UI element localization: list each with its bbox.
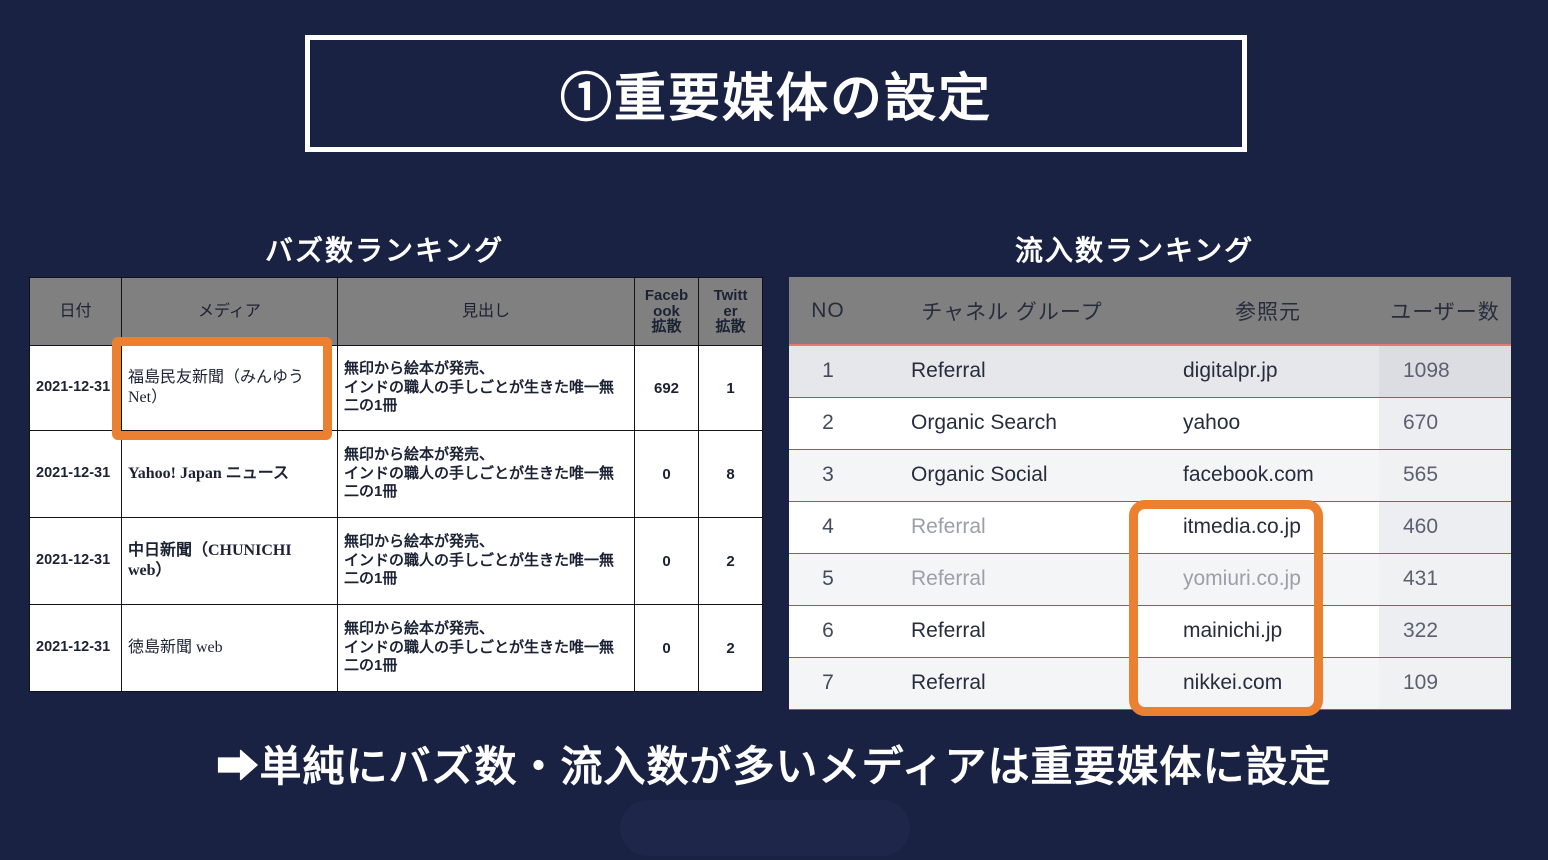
cell-media: 徳島新聞 web <box>122 605 338 692</box>
cell-channel-group: Organic Social <box>867 449 1157 501</box>
table-row: 6Referralmainichi.jp322 <box>789 605 1511 657</box>
fb-line-1: Faceb <box>645 287 688 304</box>
cell-channel-group: Referral <box>867 605 1157 657</box>
cell-facebook-shares: 692 <box>635 346 699 431</box>
cell-no: 3 <box>789 449 867 501</box>
tw-line-3: 拡散 <box>715 318 745 335</box>
cell-no: 1 <box>789 345 867 397</box>
table-row: 2021-12-31徳島新聞 web無印から絵本が発売、インドの職人の手しごとが… <box>30 605 763 692</box>
inflow-ranking-table-wrapper: NO チャネル グループ 参照元 ユーザー数 1Referraldigitalp… <box>789 277 1511 710</box>
column-header-facebook-shares: Faceb ook 拡散 <box>635 278 699 346</box>
buzz-ranking-title: バズ数ランキング <box>265 229 504 269</box>
column-header-media: メディア <box>122 278 338 346</box>
cell-media: Yahoo! Japan ニュース <box>122 431 338 518</box>
table-row: 2021-12-31福島民友新聞（みんゆうNet）無印から絵本が発売、インドの職… <box>30 346 763 431</box>
cell-channel-group: Referral <box>867 345 1157 397</box>
cell-twitter-shares: 8 <box>699 431 763 518</box>
column-header-channel-group: チャネル グループ <box>867 277 1157 345</box>
table-row: 1Referraldigitalpr.jp1098 <box>789 345 1511 397</box>
cell-source: yomiuri.co.jp <box>1157 553 1379 605</box>
cell-no: 6 <box>789 605 867 657</box>
cell-no: 2 <box>789 397 867 449</box>
column-header-no: NO <box>789 277 867 345</box>
cell-no: 7 <box>789 657 867 709</box>
cell-date: 2021-12-31 <box>30 518 122 605</box>
column-header-users: ユーザー数 <box>1379 277 1511 345</box>
inflow-ranking-title: 流入数ランキング <box>1015 229 1254 269</box>
cell-source: mainichi.jp <box>1157 605 1379 657</box>
column-header-twitter-shares: Twitt er 拡散 <box>699 278 763 346</box>
cell-channel-group: Referral <box>867 501 1157 553</box>
cell-source: digitalpr.jp <box>1157 345 1379 397</box>
cell-headline: 無印から絵本が発売、インドの職人の手しごとが生きた唯一無二の1冊 <box>338 346 635 431</box>
cell-facebook-shares: 0 <box>635 431 699 518</box>
cell-no: 4 <box>789 501 867 553</box>
fb-line-3: 拡散 <box>651 318 681 335</box>
slide-canvas: ①重要媒体の設定 バズ数ランキング 流入数ランキング 日付 メディア 見出し F… <box>0 0 1548 860</box>
cell-headline: 無印から絵本が発売、インドの職人の手しごとが生きた唯一無二の1冊 <box>338 431 635 518</box>
table-row: 2021-12-31Yahoo! Japan ニュース無印から絵本が発売、インド… <box>30 431 763 518</box>
column-header-headline: 見出し <box>338 278 635 346</box>
cell-source: itmedia.co.jp <box>1157 501 1379 553</box>
cell-facebook-shares: 0 <box>635 518 699 605</box>
cell-media: 中日新聞（CHUNICHI web） <box>122 518 338 605</box>
cell-users: 431 <box>1379 553 1511 605</box>
slide-title-box: ①重要媒体の設定 <box>305 35 1247 152</box>
buzz-ranking-table: 日付 メディア 見出し Faceb ook 拡散 Twitt er 拡散 202… <box>29 277 763 692</box>
cell-headline: 無印から絵本が発売、インドの職人の手しごとが生きた唯一無二の1冊 <box>338 518 635 605</box>
table-header-row: NO チャネル グループ 参照元 ユーザー数 <box>789 277 1511 345</box>
table-row: 3Organic Socialfacebook.com565 <box>789 449 1511 501</box>
table-row: 5Referralyomiuri.co.jp431 <box>789 553 1511 605</box>
cell-facebook-shares: 0 <box>635 605 699 692</box>
cell-users: 109 <box>1379 657 1511 709</box>
cell-users: 565 <box>1379 449 1511 501</box>
table-row: 7Referralnikkei.com109 <box>789 657 1511 709</box>
cell-twitter-shares: 2 <box>699 605 763 692</box>
cell-source: nikkei.com <box>1157 657 1379 709</box>
buzz-ranking-table-wrapper: 日付 メディア 見出し Faceb ook 拡散 Twitt er 拡散 202… <box>29 277 762 692</box>
cell-date: 2021-12-31 <box>30 346 122 431</box>
background-watermark-shape <box>620 800 910 856</box>
cell-date: 2021-12-31 <box>30 431 122 518</box>
table-row: 2Organic Searchyahoo670 <box>789 397 1511 449</box>
table-header-row: 日付 メディア 見出し Faceb ook 拡散 Twitt er 拡散 <box>30 278 763 346</box>
tw-line-1: Twitt <box>714 287 748 304</box>
cell-users: 322 <box>1379 605 1511 657</box>
cell-users: 670 <box>1379 397 1511 449</box>
inflow-ranking-table: NO チャネル グループ 参照元 ユーザー数 1Referraldigitalp… <box>789 277 1511 710</box>
cell-twitter-shares: 1 <box>699 346 763 431</box>
cell-media: 福島民友新聞（みんゆうNet） <box>122 346 338 431</box>
slide-footer-caption: ➡単純にバズ数・流入数が多いメディアは重要媒体に設定 <box>0 733 1548 794</box>
cell-twitter-shares: 2 <box>699 518 763 605</box>
column-header-source: 参照元 <box>1157 277 1379 345</box>
cell-source: facebook.com <box>1157 449 1379 501</box>
cell-users: 460 <box>1379 501 1511 553</box>
table-row: 2021-12-31中日新聞（CHUNICHI web）無印から絵本が発売、イン… <box>30 518 763 605</box>
cell-users: 1098 <box>1379 345 1511 397</box>
table-row: 4Referralitmedia.co.jp460 <box>789 501 1511 553</box>
cell-headline: 無印から絵本が発売、インドの職人の手しごとが生きた唯一無二の1冊 <box>338 605 635 692</box>
cell-date: 2021-12-31 <box>30 605 122 692</box>
cell-channel-group: Referral <box>867 553 1157 605</box>
column-header-date: 日付 <box>30 278 122 346</box>
cell-source: yahoo <box>1157 397 1379 449</box>
cell-channel-group: Organic Search <box>867 397 1157 449</box>
slide-title: ①重要媒体の設定 <box>560 56 992 131</box>
cell-channel-group: Referral <box>867 657 1157 709</box>
cell-no: 5 <box>789 553 867 605</box>
